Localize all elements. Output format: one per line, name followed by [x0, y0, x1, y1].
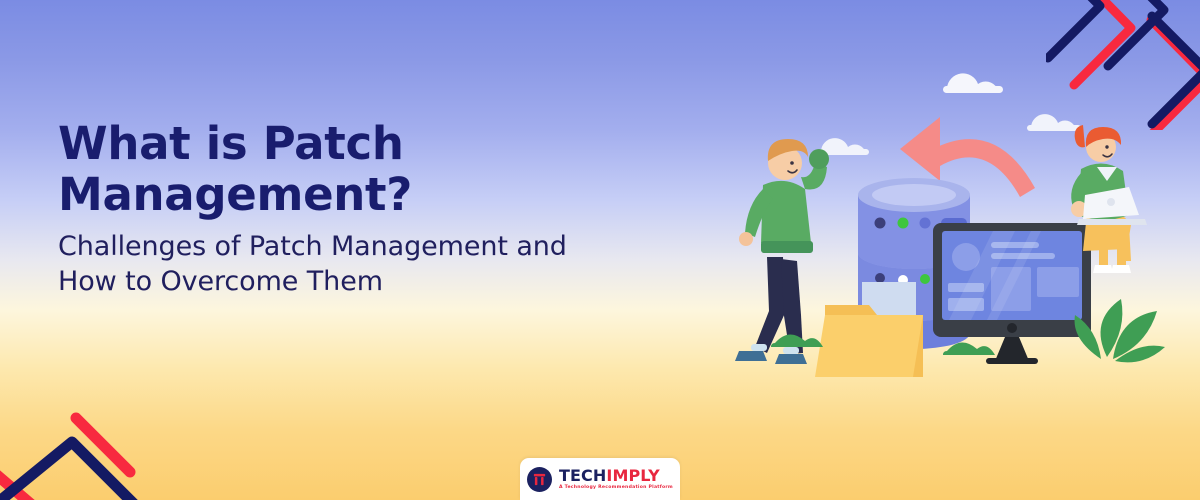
headline-line-2: Management?: [58, 168, 412, 221]
promo-banner: What is Patch Management? Challenges of …: [0, 0, 1200, 500]
person-walking-male: [735, 139, 829, 364]
page-title: What is Patch Management?: [58, 118, 678, 220]
brand-name-part1: TECH: [559, 466, 606, 485]
headline-line-1: What is Patch: [58, 117, 404, 170]
brand-name: TECHIMPLY: [559, 468, 673, 484]
cloud-top-middle: [943, 73, 1003, 93]
folder-with-document: [815, 282, 923, 377]
techimply-logo-text: TECHIMPLY A Technology Recommendation Pl…: [559, 468, 673, 491]
techimply-logo[interactable]: TECHIMPLY A Technology Recommendation Pl…: [520, 458, 680, 500]
brand-name-part2: IMPLY: [606, 466, 659, 485]
db-led-green: [920, 274, 930, 284]
cloud-right: [1027, 114, 1081, 131]
techimply-logo-mark-icon: [527, 467, 552, 492]
bottom-left-decoration: [0, 374, 150, 500]
patch-management-illustration: [735, 55, 1165, 395]
brand-tagline: A Technology Recommendation Platform: [559, 486, 673, 491]
headline-block: What is Patch Management? Challenges of …: [58, 118, 678, 299]
bush-left: [771, 334, 823, 347]
page-subtitle: Challenges of Patch Management and How t…: [58, 229, 678, 299]
db-led-dark: [875, 273, 885, 283]
subhead-line-2: How to Overcome Them: [58, 266, 383, 297]
subhead-line-1: Challenges of Patch Management and: [58, 231, 567, 262]
